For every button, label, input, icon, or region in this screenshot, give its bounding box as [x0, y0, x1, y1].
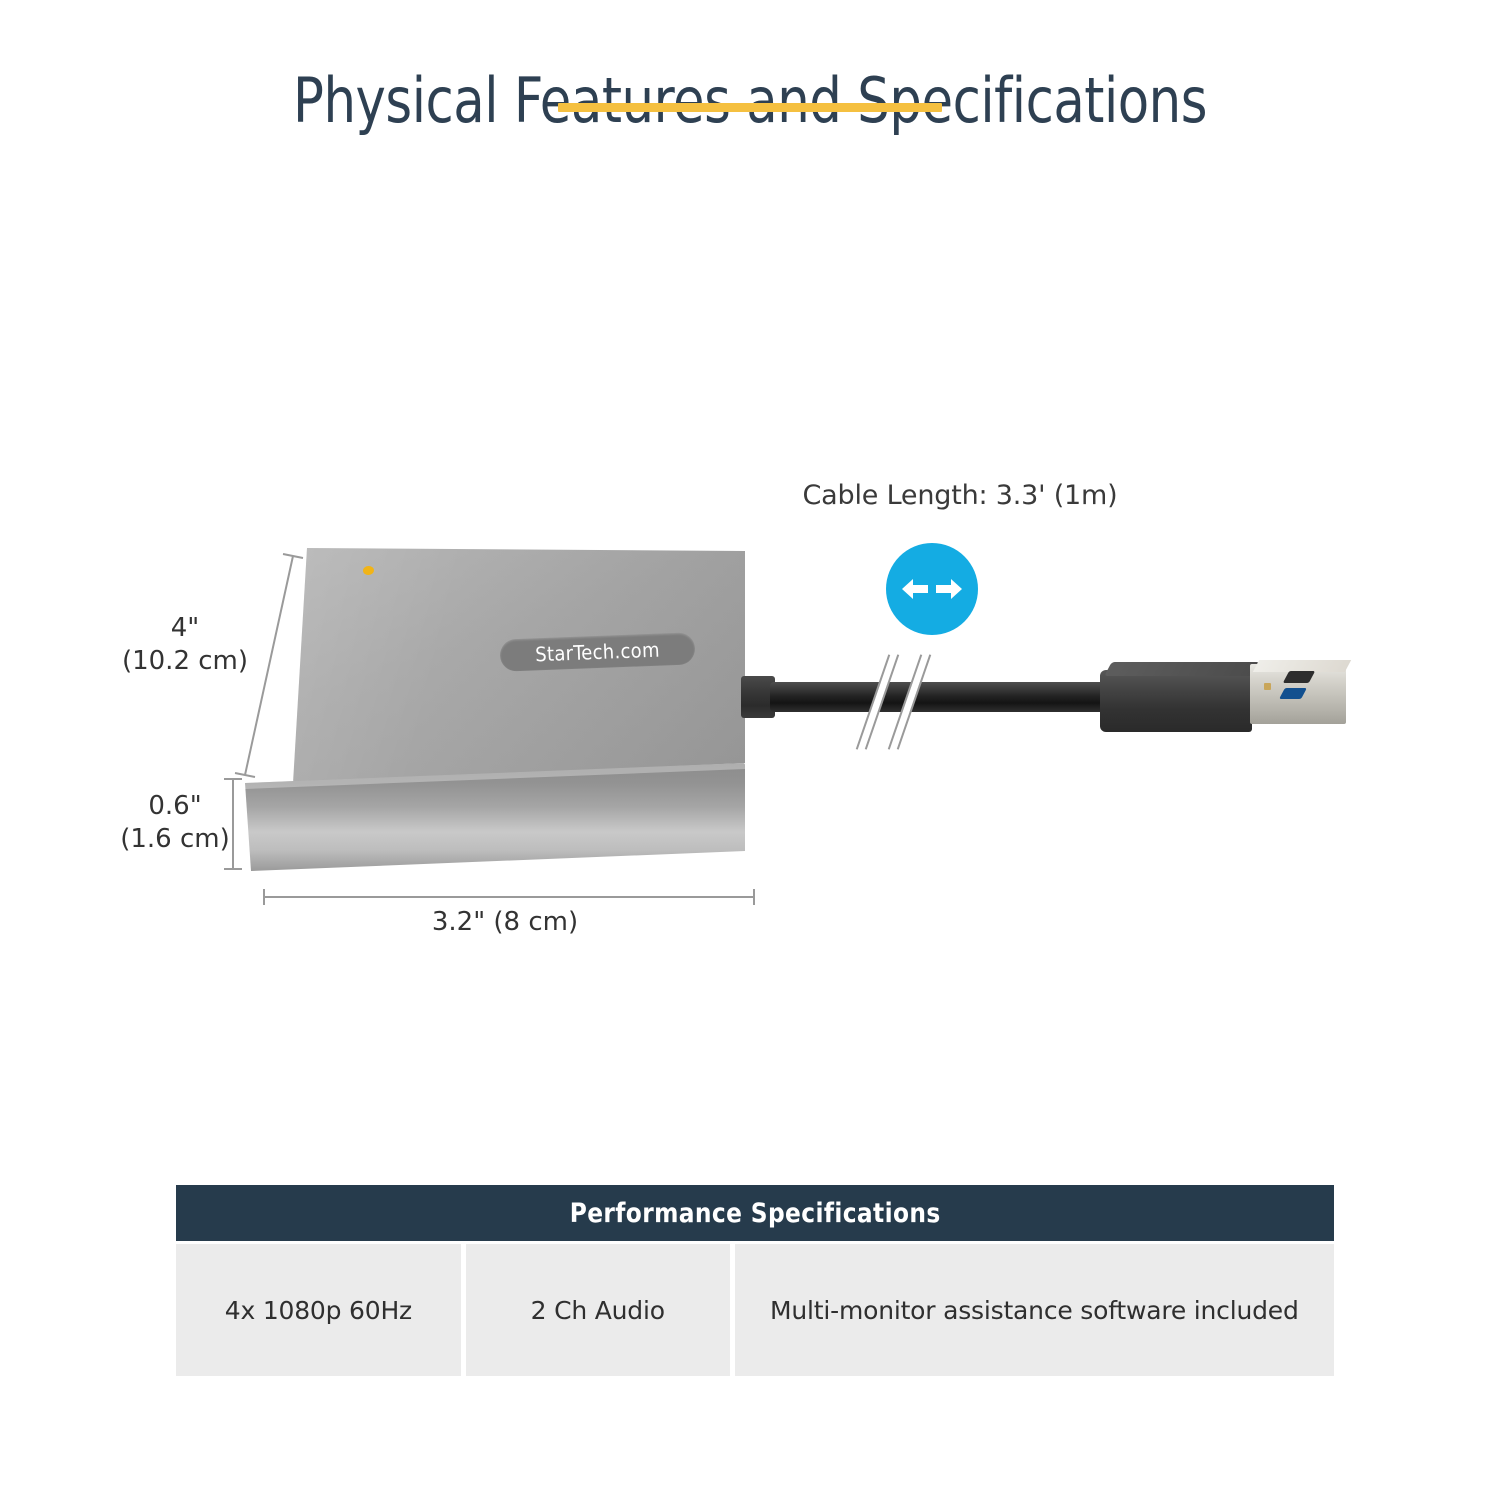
usb-connector-housing — [1100, 670, 1252, 732]
product-illustration: StarTech.com Cable Length: 3.3' (1m) — [0, 0, 1500, 1000]
cable-length-label: Cable Length: 3.3' (1m) — [760, 480, 1160, 511]
height-dimension-metric: (1.6 cm) — [110, 823, 240, 856]
spec-table-header-title: Performance Specifications — [570, 1198, 941, 1229]
usb-connector-housing-top — [1104, 662, 1259, 676]
startech-logo-text: StarTech.com — [535, 638, 660, 667]
depth-dimension-metric: (10.2 cm) — [110, 645, 260, 678]
depth-dimension-label: 4" (10.2 cm) — [110, 612, 260, 679]
spec-cell-text: 2 Ch Audio — [531, 1296, 665, 1325]
height-dimension-imperial: 0.6" — [110, 790, 240, 823]
product-spec-page: Physical Features and Specifications Sta… — [0, 0, 1500, 1500]
width-dimension-label: 3.2" (8 cm) — [355, 906, 655, 939]
cable-length-callout: Cable Length: 3.3' (1m) — [760, 480, 1160, 511]
device-front-face — [245, 763, 745, 878]
spec-cell-resolution: 4x 1080p 60Hz — [176, 1244, 461, 1376]
usb-connector-pin — [1264, 683, 1271, 690]
spec-cell-text: 4x 1080p 60Hz — [225, 1296, 412, 1325]
spec-table-header: Performance Specifications — [176, 1185, 1334, 1241]
height-dimension-label: 0.6" (1.6 cm) — [110, 790, 240, 857]
usb-cable — [770, 682, 1120, 712]
device-body: StarTech.com — [245, 548, 745, 878]
performance-specifications-table: Performance Specifications 4x 1080p 60Hz… — [176, 1185, 1334, 1376]
depth-dimension-imperial: 4" — [110, 612, 260, 645]
usb-a-connector — [1100, 660, 1370, 740]
spec-cell-audio: 2 Ch Audio — [466, 1244, 730, 1376]
cable-length-badge — [886, 543, 978, 635]
spec-cell-text: Multi-monitor assistance software includ… — [770, 1296, 1299, 1325]
double-arrow-horizontal-icon — [886, 543, 978, 635]
spec-table-row: 4x 1080p 60Hz 2 Ch Audio Multi-monitor a… — [176, 1244, 1334, 1376]
spec-cell-software: Multi-monitor assistance software includ… — [735, 1244, 1334, 1376]
